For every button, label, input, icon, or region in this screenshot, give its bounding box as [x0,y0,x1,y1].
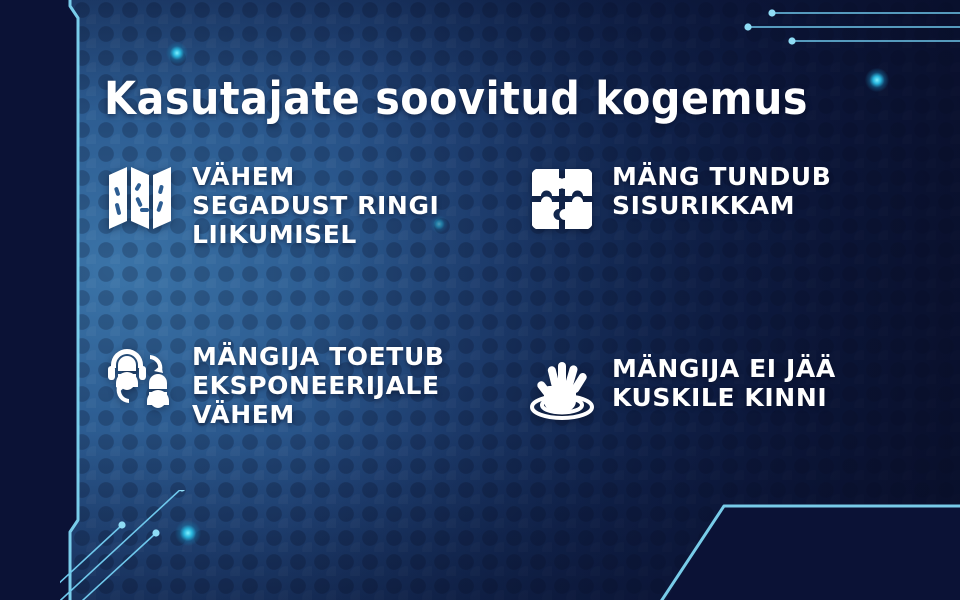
feature-item-less-confusion: VÄHEM SEGADUST RINGI LIIKUMISEL [104,160,439,249]
feature-item-richer-game: MÄNG TUNDUB SISURIKKAM [528,160,831,238]
feature-label: MÄNGIJA EI JÄÄ KUSKILE KINNI [612,352,836,412]
feature-item-less-reliance-on-host: MÄNGIJA TOETUB EKSPONEERIJALE VÄHEM [104,340,445,429]
feature-label: VÄHEM SEGADUST RINGI LIIKUMISEL [192,160,439,249]
feature-label: MÄNG TUNDUB SISURIKKAM [612,160,831,220]
hand-in-water-icon [528,352,596,430]
puzzle-pieces-icon [528,160,596,238]
page-title: Kasutajate soovitud kogemus [104,72,808,125]
feature-label: MÄNGIJA TOETUB EKSPONEERIJALE VÄHEM [192,340,445,429]
feature-item-player-never-stuck: MÄNGIJA EI JÄÄ KUSKILE KINNI [528,352,836,430]
folded-map-icon [104,160,176,238]
headset-support-exchange-icon [104,340,176,418]
slide-canvas: Kasutajate soovitud kogemus [0,0,960,600]
slide-content: Kasutajate soovitud kogemus [0,0,960,600]
